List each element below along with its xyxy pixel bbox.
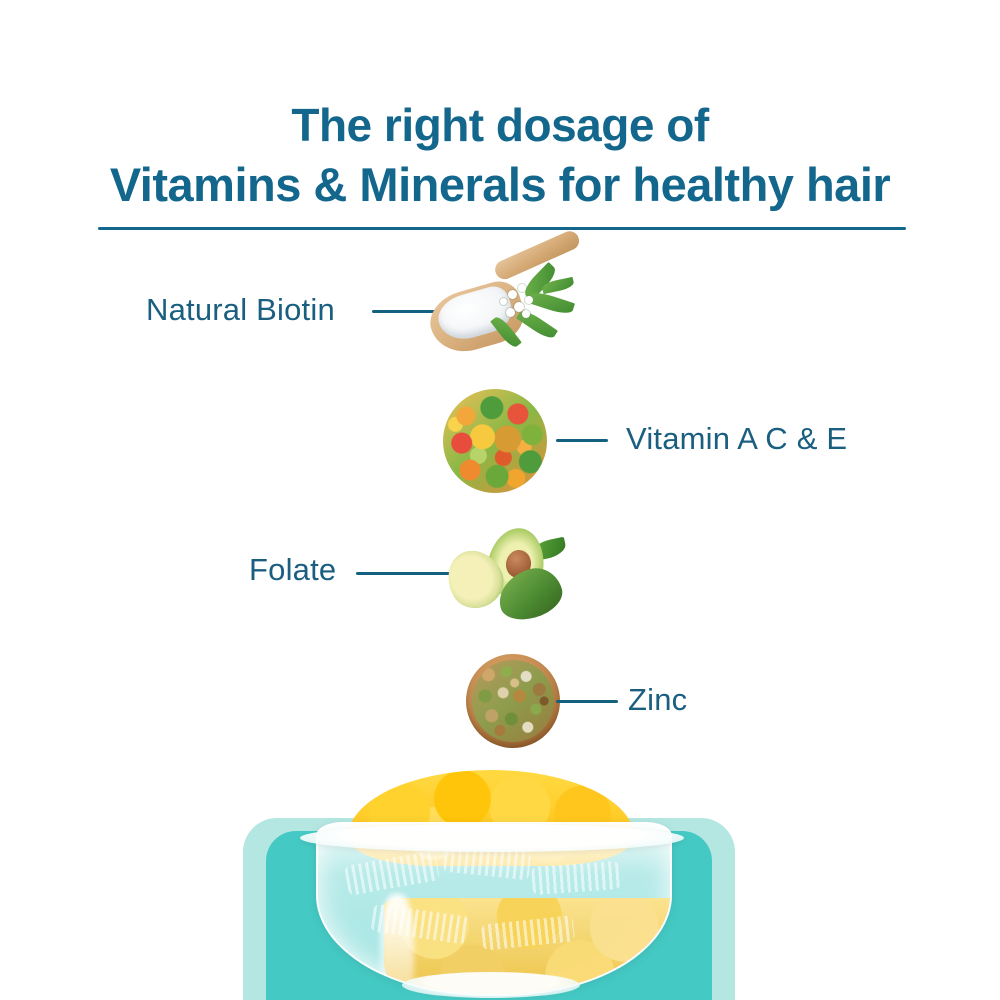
fruits-vegetables-circle-image: [443, 389, 547, 493]
herb-flower-icon: [525, 296, 533, 304]
ingredient-label-zinc: Zinc: [628, 682, 687, 718]
page-title-line-1: The right dosage of: [291, 99, 708, 151]
avocado-image: [448, 522, 566, 622]
page-title-line-2: Vitamins & Minerals for healthy hair: [0, 155, 1000, 215]
herb-flower-icon: [518, 284, 526, 292]
legumes-seeds-bowl-image: [466, 654, 560, 748]
gummy-ridge-texture: [344, 850, 440, 896]
gummy-ridge-texture: [531, 861, 621, 895]
herb-flower-icon: [506, 308, 515, 317]
herb-flower-icon: [500, 298, 507, 305]
biotin-powder-scoop-image: [424, 262, 576, 362]
ingredient-label-folate: Folate: [249, 552, 336, 588]
glass-bowl-rim-shape: [300, 824, 684, 852]
infographic-root: The right dosage of Vitamins & Minerals …: [0, 0, 1000, 1000]
page-title: The right dosage of Vitamins & Minerals …: [0, 96, 1000, 215]
ingredient-label-natural-biotin: Natural Biotin: [146, 292, 335, 328]
legumes-seeds-fill-shape: [472, 660, 554, 742]
gummies-glass-bowl-image: [270, 770, 710, 1000]
herb-leaf-icon: [527, 289, 575, 317]
connector-line-zinc: [556, 700, 618, 703]
herb-flower-icon: [508, 290, 517, 299]
herb-flower-icon: [522, 310, 530, 318]
connector-line-vitamin-ace: [556, 439, 608, 442]
glass-bowl-base-shape: [402, 972, 580, 998]
connector-line-folate: [356, 572, 452, 575]
title-divider: [98, 227, 906, 230]
ingredient-label-vitamin-ace: Vitamin A C & E: [626, 421, 847, 457]
